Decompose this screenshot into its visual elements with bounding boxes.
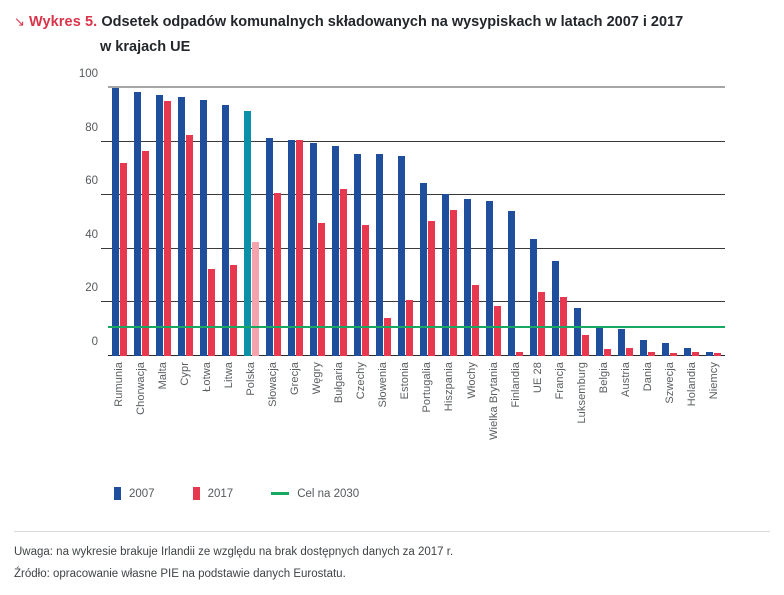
x-label-cell: Estonia — [394, 360, 416, 472]
legend-label: 2017 — [208, 488, 234, 500]
bar-2017 — [714, 353, 721, 356]
bar-2007 — [574, 308, 581, 356]
bar-2017 — [340, 189, 347, 357]
title-text-line-1: Odsetek odpadów komunalnych składowanych… — [101, 14, 683, 30]
x-axis-label: Węgry — [311, 362, 323, 394]
x-label-cell: UE 28 — [527, 360, 549, 472]
y-tick-label-80: 80 — [64, 122, 98, 134]
bar-group — [703, 88, 725, 356]
x-axis-label: Niemcy — [708, 362, 720, 399]
bar-2017 — [296, 140, 303, 356]
bar-2007 — [134, 92, 141, 356]
bar-2007 — [596, 327, 603, 356]
y-tick-label-100: 100 — [64, 68, 98, 80]
bar-2007 — [112, 88, 119, 356]
bar-2017 — [450, 210, 457, 356]
bar-2017 — [670, 353, 677, 356]
x-label-cell: Chorwacja — [130, 360, 152, 472]
bar-group — [505, 88, 527, 356]
x-axis-label: Austria — [620, 362, 632, 397]
bar-group — [350, 88, 372, 356]
bar-2017 — [186, 135, 193, 356]
bar-group — [130, 88, 152, 356]
x-axis-label: Łotwa — [201, 362, 213, 392]
bar-group — [218, 88, 240, 356]
x-axis-labels: RumuniaChorwacjaMaltaCyprŁotwaLitwaPolsk… — [108, 360, 725, 472]
bar-group — [174, 88, 196, 356]
x-label-cell: Dania — [637, 360, 659, 472]
bar-2007 — [552, 261, 559, 356]
x-label-cell: Hiszpania — [438, 360, 460, 472]
legend-label: 2007 — [129, 488, 155, 500]
bar-2007 — [420, 183, 427, 356]
legend-item: 2007 — [114, 487, 155, 500]
chart-legend: 20072017Cel na 2030 — [114, 487, 359, 500]
bar-2017 — [626, 348, 633, 356]
bar-2017 — [582, 335, 589, 356]
title-line-2: w krajach UE — [100, 35, 770, 60]
x-label-cell: Bułgaria — [328, 360, 350, 472]
bar-2017 — [472, 285, 479, 356]
x-axis-label: Holandia — [686, 362, 698, 406]
bar-group — [152, 88, 174, 356]
title-line-1: ↘ Wykres 5. Odsetek odpadów komunalnych … — [14, 9, 770, 35]
x-axis-label: Estonia — [399, 362, 411, 399]
x-axis-label: Finlandia — [510, 362, 522, 408]
y-tick-mark-20 — [101, 301, 108, 302]
footnote-source: Źródło: opracowanie własne PIE na podsta… — [14, 563, 770, 585]
bar-2007 — [200, 100, 207, 356]
bar-2007 — [266, 138, 273, 356]
x-axis-label: Portugalia — [421, 362, 433, 413]
bar-2017 — [648, 352, 655, 356]
bar-2017 — [318, 223, 325, 356]
y-tick-label-60: 60 — [64, 175, 98, 187]
x-axis-label: Czechy — [355, 362, 367, 399]
bar-group — [571, 88, 593, 356]
footer-divider — [14, 531, 770, 532]
x-axis-label: Słowenia — [377, 362, 389, 407]
bar-group — [593, 88, 615, 356]
x-axis-label: Polska — [245, 362, 257, 396]
bar-2017 — [692, 352, 699, 356]
title-text-line-2: w krajach UE — [100, 39, 190, 55]
bar-2007 — [464, 199, 471, 356]
bar-group — [461, 88, 483, 356]
bar-2007 — [640, 340, 647, 356]
y-tick-label-20: 20 — [64, 282, 98, 294]
bar-group — [483, 88, 505, 356]
figure-number: Wykres 5. — [29, 14, 97, 30]
legend-swatch-2017 — [193, 487, 200, 500]
y-tick-label-40: 40 — [64, 229, 98, 241]
x-axis-label: UE 28 — [532, 362, 544, 393]
x-label-cell: Luksemburg — [571, 360, 593, 472]
bar-group — [394, 88, 416, 356]
x-axis-label: Bułgaria — [333, 362, 345, 403]
x-axis-label: Włochy — [466, 362, 478, 399]
x-label-cell: Wielka Brytania — [483, 360, 505, 472]
bar-group — [262, 88, 284, 356]
page-title: ↘ Wykres 5. Odsetek odpadów komunalnych … — [14, 9, 770, 60]
chart-plot-area: 020406080100 — [108, 88, 725, 356]
bar-group — [108, 88, 130, 356]
bar-2007 — [684, 348, 691, 356]
legend-item: 2017 — [193, 487, 234, 500]
bar-2007 — [244, 111, 251, 356]
x-label-cell: Austria — [615, 360, 637, 472]
x-label-cell: Słowacja — [262, 360, 284, 472]
bar-group — [240, 88, 262, 356]
x-axis-label: Hiszpania — [443, 362, 455, 411]
bar-2007 — [310, 143, 317, 356]
x-label-cell: Włochy — [461, 360, 483, 472]
bar-2007 — [442, 194, 449, 356]
legend-label: Cel na 2030 — [297, 488, 359, 500]
bar-2007 — [662, 343, 669, 356]
bar-group — [306, 88, 328, 356]
bar-2017 — [164, 101, 171, 356]
bar-2017 — [516, 352, 523, 356]
x-axis-label: Dania — [642, 362, 654, 391]
x-label-cell: Grecja — [284, 360, 306, 472]
bar-2017 — [230, 265, 237, 356]
bar-group — [328, 88, 350, 356]
y-tick-mark-80 — [101, 141, 108, 142]
footnote-note: Uwaga: na wykresie brakuje Irlandii ze w… — [14, 541, 770, 563]
y-tick-mark-40 — [101, 248, 108, 249]
bar-2017 — [362, 225, 369, 356]
bar-group — [438, 88, 460, 356]
bar-group — [659, 88, 681, 356]
bar-2007 — [222, 105, 229, 356]
bar-2007 — [288, 140, 295, 356]
x-label-cell: Holandia — [681, 360, 703, 472]
x-label-cell: Szwecja — [659, 360, 681, 472]
x-label-cell: Cypr — [174, 360, 196, 472]
x-label-cell: Francja — [549, 360, 571, 472]
x-axis-label: Słowacja — [267, 362, 279, 407]
bar-group — [637, 88, 659, 356]
y-tick-mark-60 — [101, 194, 108, 195]
x-label-cell: Malta — [152, 360, 174, 472]
bar-2007 — [530, 239, 537, 356]
bar-2017 — [538, 292, 545, 356]
bar-2017 — [252, 242, 259, 356]
x-label-cell: Rumunia — [108, 360, 130, 472]
bar-group — [372, 88, 394, 356]
figure-arrow-icon: ↘ — [14, 14, 25, 29]
legend-item: Cel na 2030 — [271, 488, 359, 500]
y-tick-label-0: 0 — [64, 336, 98, 348]
x-axis-label: Luksemburg — [576, 362, 588, 424]
footnotes: Uwaga: na wykresie brakuje Irlandii ze w… — [14, 541, 770, 585]
bar-2017 — [274, 193, 281, 356]
x-label-cell: Polska — [240, 360, 262, 472]
bar-2007 — [332, 146, 339, 356]
x-label-cell: Portugalia — [416, 360, 438, 472]
x-label-cell: Niemcy — [703, 360, 725, 472]
legend-swatch-cel-na-2030 — [271, 492, 289, 495]
bar-2007 — [508, 211, 515, 356]
bar-2007 — [156, 95, 163, 356]
x-label-cell: Litwa — [218, 360, 240, 472]
bar-2017 — [208, 269, 215, 356]
x-label-cell: Słowenia — [372, 360, 394, 472]
x-axis-label: Chorwacja — [135, 362, 147, 415]
x-axis-label: Litwa — [223, 362, 235, 388]
bar-group — [549, 88, 571, 356]
bar-group — [527, 88, 549, 356]
x-axis-label: Rumunia — [113, 362, 125, 407]
x-axis-label: Cypr — [179, 362, 191, 386]
x-axis-label: Belgia — [598, 362, 610, 393]
target-line-2030 — [108, 326, 725, 328]
bar-2007 — [486, 201, 493, 356]
x-axis-label: Wielka Brytania — [488, 362, 500, 440]
bar-group — [615, 88, 637, 356]
x-label-cell: Finlandia — [505, 360, 527, 472]
bar-2017 — [428, 221, 435, 356]
x-axis-label: Francja — [554, 362, 566, 399]
bar-series-container — [108, 88, 725, 356]
bar-2017 — [604, 349, 611, 356]
x-label-cell: Węgry — [306, 360, 328, 472]
bar-group — [681, 88, 703, 356]
x-axis-label: Szwecja — [664, 362, 676, 404]
bar-2017 — [384, 318, 391, 356]
bar-group — [416, 88, 438, 356]
bar-2007 — [618, 329, 625, 356]
legend-swatch-2007 — [114, 487, 121, 500]
bar-2017 — [494, 306, 501, 356]
bar-group — [196, 88, 218, 356]
bar-2007 — [706, 352, 713, 356]
x-label-cell: Czechy — [350, 360, 372, 472]
x-axis-label: Malta — [157, 362, 169, 389]
x-label-cell: Łotwa — [196, 360, 218, 472]
x-label-cell: Belgia — [593, 360, 615, 472]
x-axis-label: Grecja — [289, 362, 301, 395]
bar-2007 — [178, 97, 185, 356]
bar-group — [284, 88, 306, 356]
